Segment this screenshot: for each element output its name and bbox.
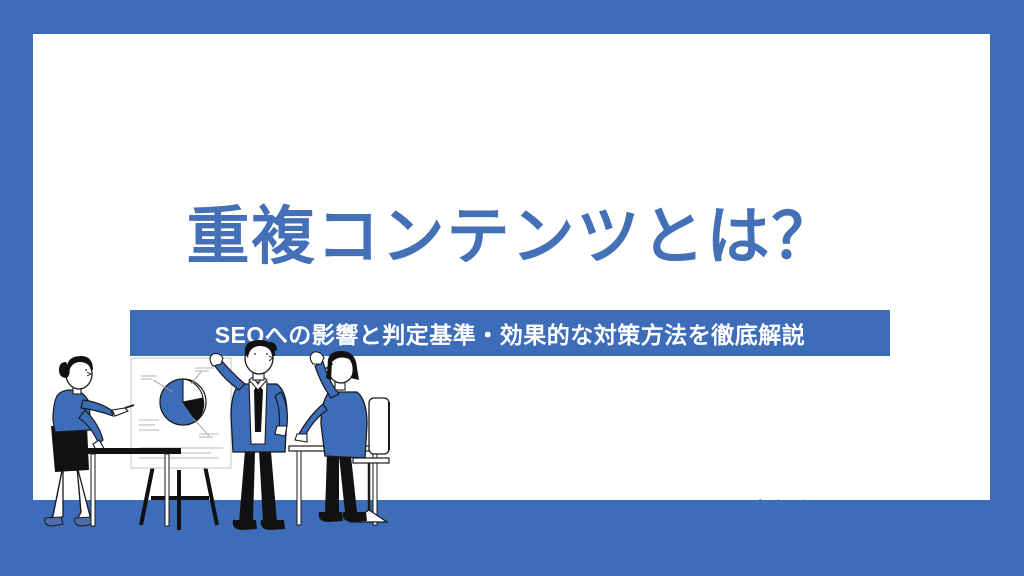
woman-pointing-at-table <box>45 356 134 526</box>
page-title: 重複コンテンツとは？ <box>33 206 990 269</box>
easel-poster-with-pie-chart <box>131 358 231 530</box>
monitor <box>369 398 389 454</box>
person-seated-at-desk <box>295 351 367 522</box>
business-team-illustration <box>33 340 433 540</box>
pie-chart <box>160 379 206 425</box>
slide-canvas: 重複コンテンツとは？ SEOへの影響と判定基準・効果的な対策方法を徹底解説 バク… <box>0 0 1024 576</box>
floor-strip-extension <box>33 540 990 576</box>
white-content-card: 重複コンテンツとは？ SEOへの影響と判定基準・効果的な対策方法を徹底解説 バク… <box>33 34 990 540</box>
